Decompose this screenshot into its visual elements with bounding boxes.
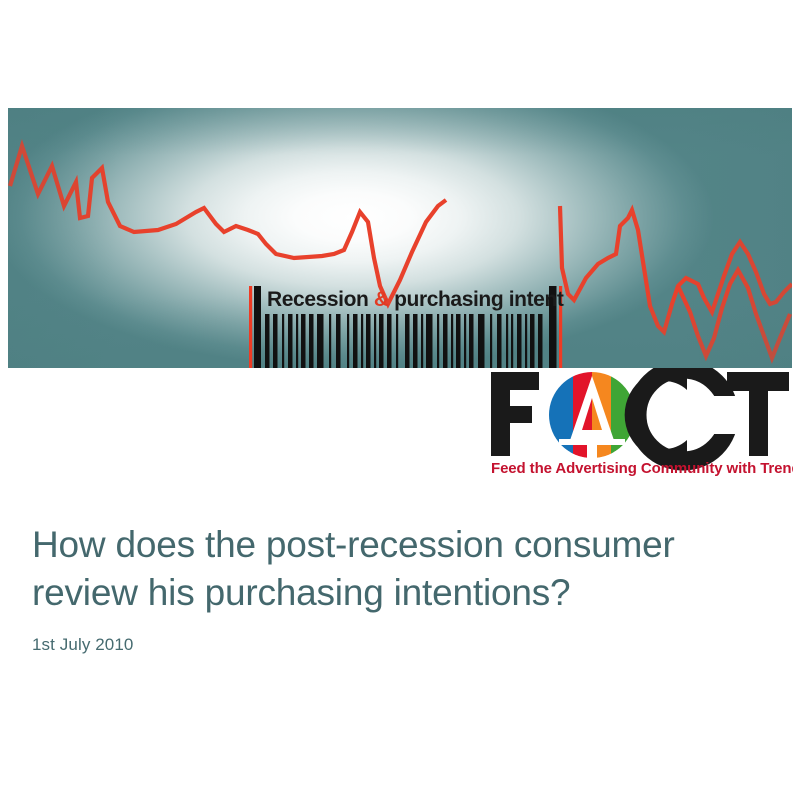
barcode-graphic: Recession & purchasing intention (247, 266, 565, 368)
barcode-caption-word-1: Recession (267, 288, 368, 311)
barcode-caption-word-2: purchasing intention (394, 288, 565, 311)
page-title: How does the post-recession consumer rev… (32, 521, 762, 617)
wheel-a-legs (587, 445, 597, 458)
title-block: How does the post-recession consumer rev… (32, 521, 762, 655)
barcode-guard-left (249, 286, 252, 368)
barcode-end-bar-left (254, 286, 261, 368)
logo-letter-a-wheel (549, 372, 637, 458)
logo-letter-f (491, 372, 539, 456)
barcode-caption-ampersand: & (374, 288, 389, 311)
barcode-caption: Recession & purchasing intention (267, 288, 565, 311)
barcode-bars (265, 314, 543, 368)
slide-canvas: Recession & purchasing intention (0, 0, 800, 800)
fact-logo: Feed the Advertising Community with Tren… (487, 368, 793, 478)
recession-banner-image: Recession & purchasing intention (8, 108, 792, 368)
presentation-date: 1st July 2010 (32, 635, 762, 655)
logo-letter-c (625, 369, 739, 461)
wheel-a-baseline-gap (559, 439, 625, 445)
logo-tagline: Feed the Advertising Community with Tren… (491, 460, 793, 477)
